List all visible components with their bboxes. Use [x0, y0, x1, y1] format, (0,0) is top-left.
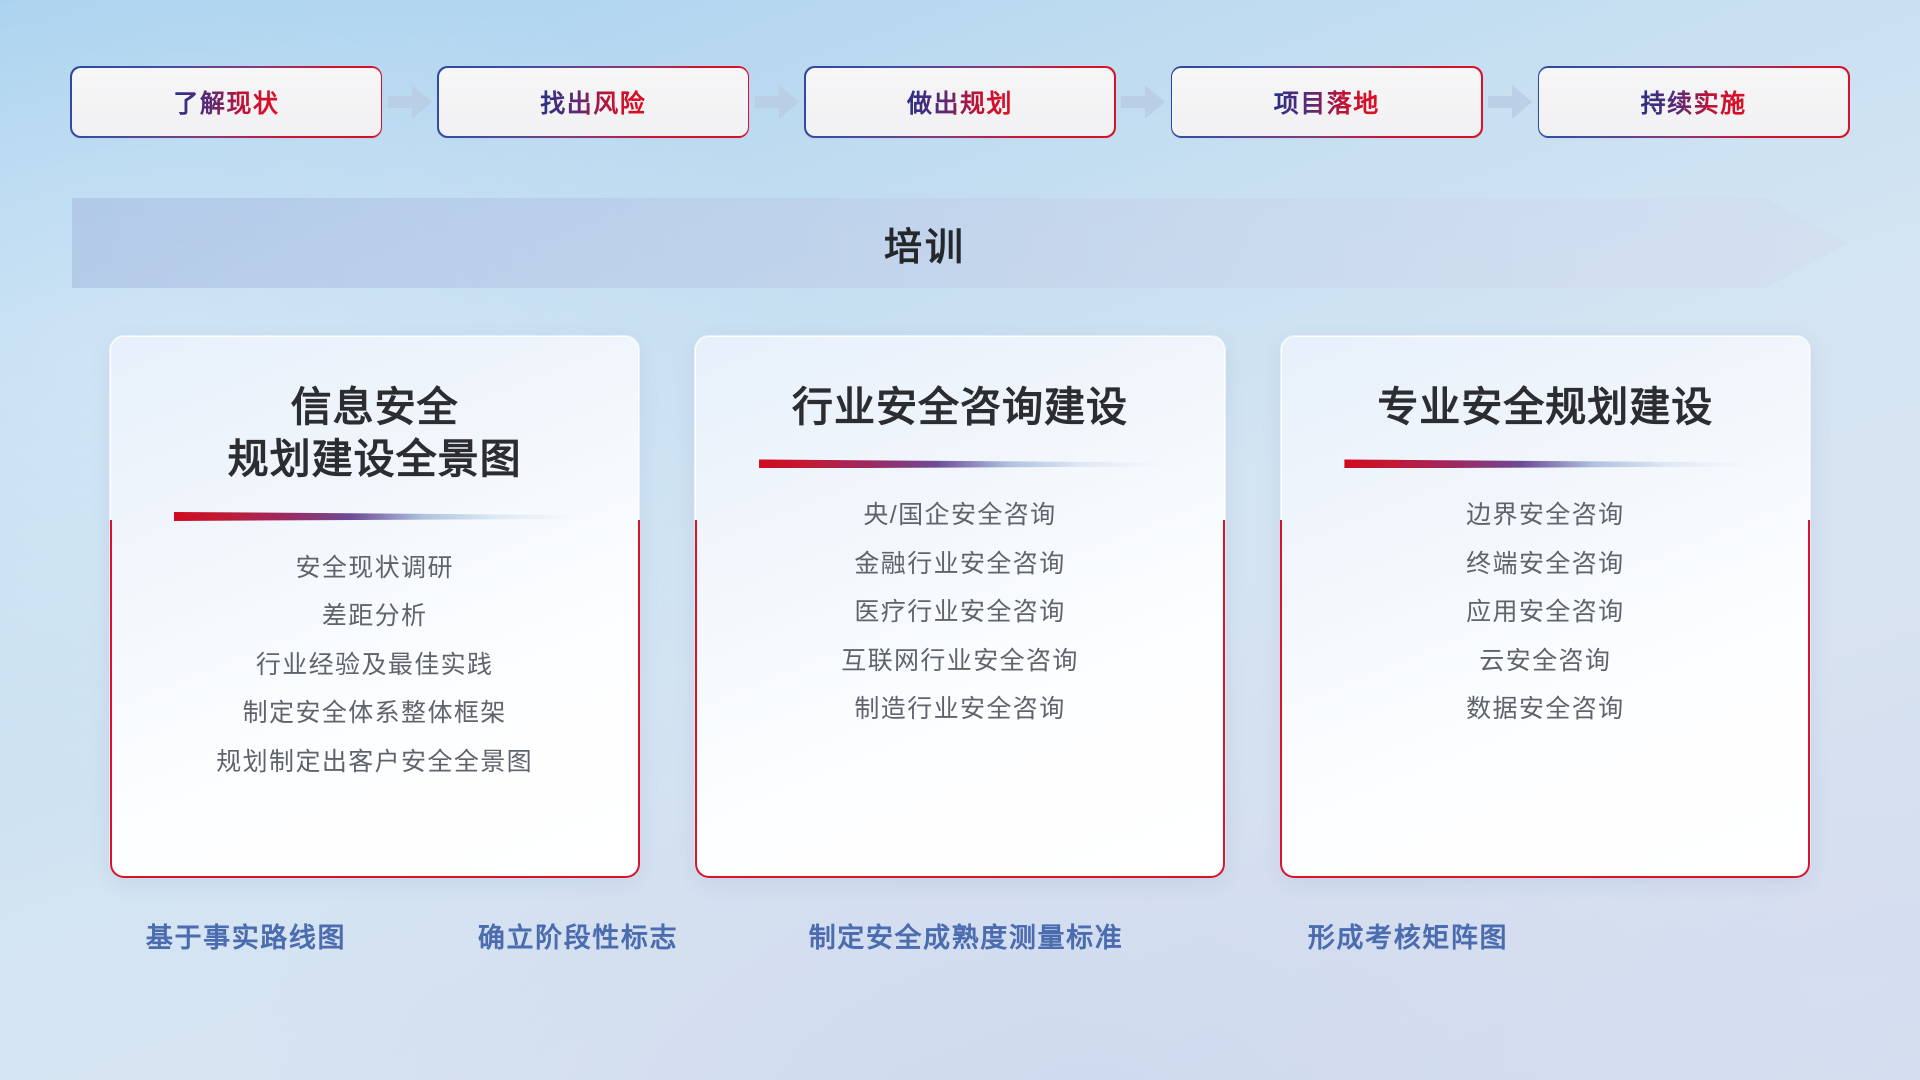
step-box-1[interactable]: 了解现状: [72, 68, 381, 136]
step-label: 做出规划: [907, 84, 1013, 120]
card-row: 信息安全 规划建设全景图 安全现状调研 差距分析 行业经验及最佳实践 制定安全体…: [110, 336, 1810, 876]
footnote-label: 确立阶段性标志: [478, 916, 678, 955]
list-item: 行业经验及最佳实践: [256, 648, 494, 684]
list-item: 央/国企安全咨询: [863, 498, 1056, 534]
arrow-right-icon: [1481, 82, 1539, 122]
card-professional-security-planning[interactable]: 专业安全规划建设 边界安全咨询 终端安全咨询 应用安全咨询 云安全咨询 数据安全…: [1281, 336, 1810, 876]
step-box-5[interactable]: 持续实施: [1539, 68, 1848, 136]
list-item: 应用安全咨询: [1466, 595, 1624, 631]
list-item: 医疗行业安全咨询: [854, 595, 1065, 631]
card-industry-security-consulting[interactable]: 行业安全咨询建设 央/国企安全咨询 金融行业安全咨询 医疗行业安全咨询 互联网行…: [695, 336, 1224, 876]
list-item: 边界安全咨询: [1466, 498, 1624, 534]
arrow-right-icon: [381, 82, 439, 122]
card-title: 专业安全规划建设: [1377, 381, 1713, 433]
step-label: 持续实施: [1641, 84, 1747, 120]
card-information-security-blueprint[interactable]: 信息安全 规划建设全景图 安全现状调研 差距分析 行业经验及最佳实践 制定安全体…: [110, 336, 639, 876]
step-box-4[interactable]: 项目落地: [1172, 68, 1481, 136]
footnote-label: 形成考核矩阵图: [1308, 916, 1508, 955]
list-item: 云安全咨询: [1479, 644, 1611, 680]
list-item: 规划制定出客户安全全景图: [216, 745, 533, 781]
card-title: 行业安全咨询建设: [792, 381, 1128, 433]
arrow-right-icon: [1114, 82, 1172, 122]
list-item: 数据安全咨询: [1466, 692, 1624, 728]
card-item-list: 边界安全咨询 终端安全咨询 应用安全咨询 云安全咨询 数据安全咨询: [1466, 498, 1624, 728]
list-item: 制造行业安全咨询: [854, 692, 1065, 728]
list-item: 差距分析: [322, 599, 428, 635]
training-banner: 培训: [72, 198, 1848, 288]
list-item: 互联网行业安全咨询: [841, 644, 1079, 680]
gradient-divider-icon: [1344, 459, 1746, 468]
card-item-list: 央/国企安全咨询 金融行业安全咨询 医疗行业安全咨询 互联网行业安全咨询 制造行…: [841, 498, 1079, 728]
banner-title: 培训: [72, 198, 1848, 288]
gradient-divider-icon: [174, 512, 576, 521]
footnote-label: 制定安全成熟度测量标准: [809, 916, 1124, 955]
list-item: 金融行业安全咨询: [854, 547, 1065, 583]
process-step-row: 了解现状 找出风险 做出规划 项目落地 持续实施: [72, 68, 1848, 136]
step-box-3[interactable]: 做出规划: [806, 68, 1115, 136]
step-box-2[interactable]: 找出风险: [439, 68, 748, 136]
list-item: 终端安全咨询: [1466, 547, 1624, 583]
list-item: 安全现状调研: [295, 551, 453, 587]
step-label: 找出风险: [540, 84, 646, 120]
step-label: 项目落地: [1274, 84, 1380, 120]
card-item-list: 安全现状调研 差距分析 行业经验及最佳实践 制定安全体系整体框架 规划制定出客户…: [216, 551, 533, 781]
step-label: 了解现状: [173, 84, 279, 120]
card-title: 信息安全 规划建设全景图: [228, 381, 522, 486]
list-item: 制定安全体系整体框架: [243, 696, 507, 732]
footnote-label: 基于事实路线图: [146, 916, 346, 955]
arrow-right-icon: [748, 82, 806, 122]
gradient-divider-icon: [759, 459, 1161, 468]
footnote-row: 基于事实路线图 确立阶段性标志 制定安全成熟度测量标准 形成考核矩阵图: [0, 916, 1920, 960]
